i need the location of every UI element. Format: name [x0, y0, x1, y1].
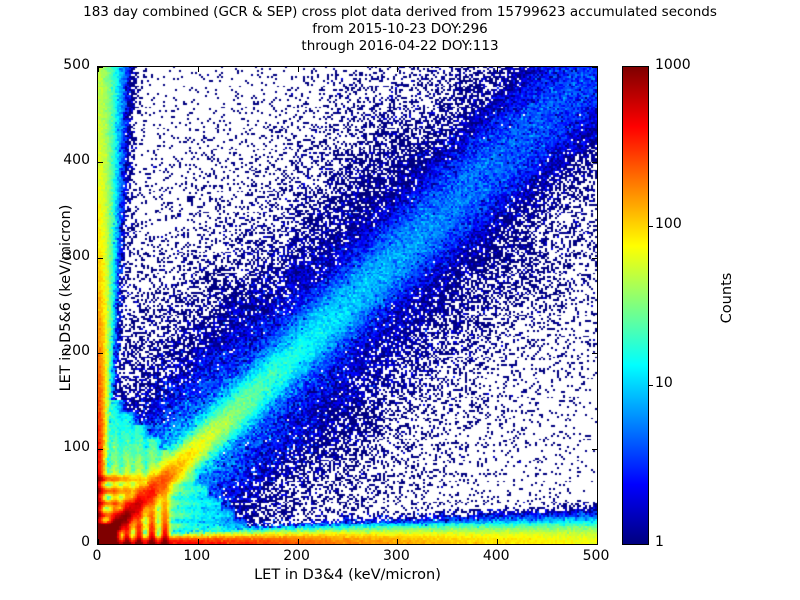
- title-line-3: through 2016-04-22 DOY:113: [0, 38, 800, 55]
- x-tick-mark: [597, 539, 598, 544]
- colorbar-tick-label: 100: [655, 216, 682, 232]
- page-title: 183 day combined (GCR & SEP) cross plot …: [0, 4, 800, 55]
- y-tick-mark: [98, 67, 103, 68]
- y-tick-mark: [592, 258, 597, 259]
- y-tick-mark: [98, 258, 103, 259]
- density-heatmap-canvas: [98, 67, 597, 544]
- colorbar-tick-mark: [648, 385, 653, 386]
- colorbar-tick-label: 10: [655, 375, 673, 391]
- colorbar-tick-label: 1: [655, 534, 664, 550]
- colorbar: [622, 66, 649, 545]
- x-tick-label: 200: [267, 548, 327, 564]
- y-tick-mark: [592, 162, 597, 163]
- x-tick-mark: [497, 539, 498, 544]
- colorbar-tick-label: 1000: [655, 57, 691, 73]
- x-tick-mark: [298, 67, 299, 72]
- y-tick-mark: [592, 449, 597, 450]
- y-tick-mark: [98, 449, 103, 450]
- x-tick-label: 0: [67, 548, 127, 564]
- title-line-2: from 2015-10-23 DOY:296: [0, 21, 800, 38]
- x-tick-mark: [397, 67, 398, 72]
- x-tick-label: 100: [167, 548, 227, 564]
- plot-page: 183 day combined (GCR & SEP) cross plot …: [0, 0, 800, 600]
- x-tick-label: 300: [366, 548, 426, 564]
- colorbar-tick-mark: [648, 226, 653, 227]
- y-tick-label: 500: [30, 57, 90, 73]
- x-axis-title: LET in D3&4 (keV/micron): [97, 567, 598, 583]
- colorbar-title: Counts: [719, 198, 735, 398]
- y-tick-label: 0: [30, 534, 90, 550]
- x-tick-mark: [298, 539, 299, 544]
- x-tick-mark: [397, 539, 398, 544]
- x-tick-mark: [198, 67, 199, 72]
- title-line-1: 183 day combined (GCR & SEP) cross plot …: [0, 4, 800, 21]
- y-tick-mark: [592, 353, 597, 354]
- x-tick-mark: [597, 67, 598, 72]
- y-axis-title: LET in D5&6 (keV/micron): [58, 108, 74, 488]
- x-tick-label: 500: [566, 548, 626, 564]
- x-tick-mark: [497, 67, 498, 72]
- y-tick-mark: [98, 162, 103, 163]
- colorbar-gradient: [623, 67, 648, 544]
- plot-area: [97, 66, 598, 545]
- x-tick-label: 400: [466, 548, 526, 564]
- y-tick-mark: [98, 544, 103, 545]
- y-tick-mark: [98, 353, 103, 354]
- y-tick-mark: [592, 67, 597, 68]
- y-tick-mark: [592, 544, 597, 545]
- x-tick-mark: [198, 539, 199, 544]
